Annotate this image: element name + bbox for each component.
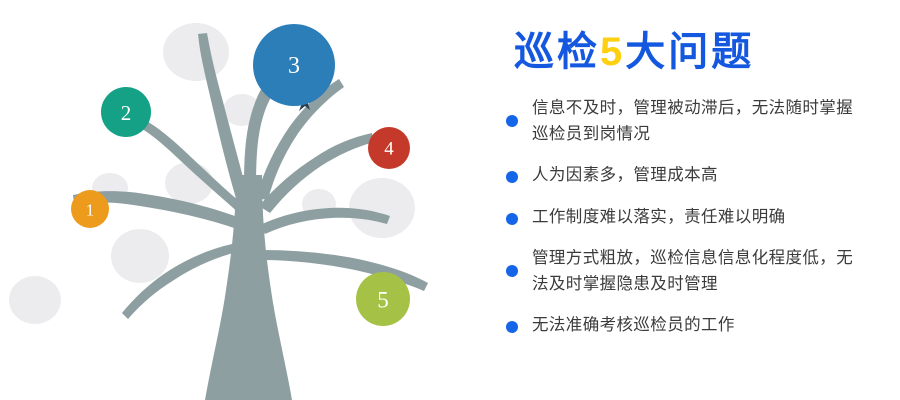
list-item-text: 人为因素多，管理成本高 bbox=[532, 163, 718, 189]
list-item: 人为因素多，管理成本高 bbox=[506, 163, 878, 189]
slide-root: 1 2 3 4 5 巡检5大问题 信息 bbox=[0, 0, 900, 400]
leaf-blob bbox=[349, 178, 415, 238]
problem-list: 信息不及时，管理被动滞后，无法随时掌握巡检员到岗情况 人为因素多，管理成本高 工… bbox=[506, 96, 878, 339]
list-item: 管理方式粗放，巡检信息信息化程度低，无法及时掌握隐患及时管理 bbox=[506, 246, 878, 297]
list-item-text: 工作制度难以落实，责任难以明确 bbox=[532, 205, 786, 231]
title-suffix: 大问题 bbox=[625, 30, 754, 74]
bullet-dot-icon bbox=[506, 265, 518, 277]
bullet-dot-icon bbox=[506, 321, 518, 333]
list-item: 信息不及时，管理被动滞后，无法随时掌握巡检员到岗情况 bbox=[506, 96, 878, 147]
node-label-4: 4 bbox=[384, 139, 394, 160]
tree-svg: 1 2 3 4 5 bbox=[0, 0, 470, 400]
node-label-1: 1 bbox=[86, 201, 95, 220]
list-item-text: 管理方式粗放，巡检信息信息化程度低，无法及时掌握隐患及时管理 bbox=[532, 246, 854, 297]
bullet-dot-icon bbox=[506, 213, 518, 225]
bullet-dot-icon bbox=[506, 115, 518, 127]
node-2[interactable]: 2 bbox=[101, 87, 151, 137]
leaf-blob bbox=[111, 229, 169, 283]
list-item: 无法准确考核巡检员的工作 bbox=[506, 313, 878, 339]
node-label-3: 3 bbox=[288, 53, 300, 79]
node-3[interactable]: 3 bbox=[253, 24, 335, 106]
leaf-blob bbox=[9, 276, 61, 324]
leaf-blob bbox=[163, 23, 229, 81]
content-panel: 巡检5大问题 信息不及时，管理被动滞后，无法随时掌握巡检员到岗情况 人为因素多，… bbox=[470, 0, 900, 400]
tree-trunk bbox=[205, 175, 292, 400]
node-label-5: 5 bbox=[377, 288, 389, 313]
node-4[interactable]: 4 bbox=[368, 127, 410, 169]
node-5[interactable]: 5 bbox=[356, 272, 410, 326]
list-item-text: 无法准确考核巡检员的工作 bbox=[532, 313, 735, 339]
tree-illustration: 1 2 3 4 5 bbox=[0, 0, 470, 400]
bullet-dot-icon bbox=[506, 171, 518, 183]
list-item: 工作制度难以落实，责任难以明确 bbox=[506, 205, 878, 231]
node-1[interactable]: 1 bbox=[71, 190, 109, 228]
title-accent-number: 5 bbox=[600, 30, 625, 74]
list-item-text: 信息不及时，管理被动滞后，无法随时掌握巡检员到岗情况 bbox=[532, 96, 854, 147]
page-title: 巡检5大问题 bbox=[514, 30, 878, 74]
node-label-2: 2 bbox=[121, 101, 132, 125]
title-prefix: 巡检 bbox=[514, 30, 600, 74]
